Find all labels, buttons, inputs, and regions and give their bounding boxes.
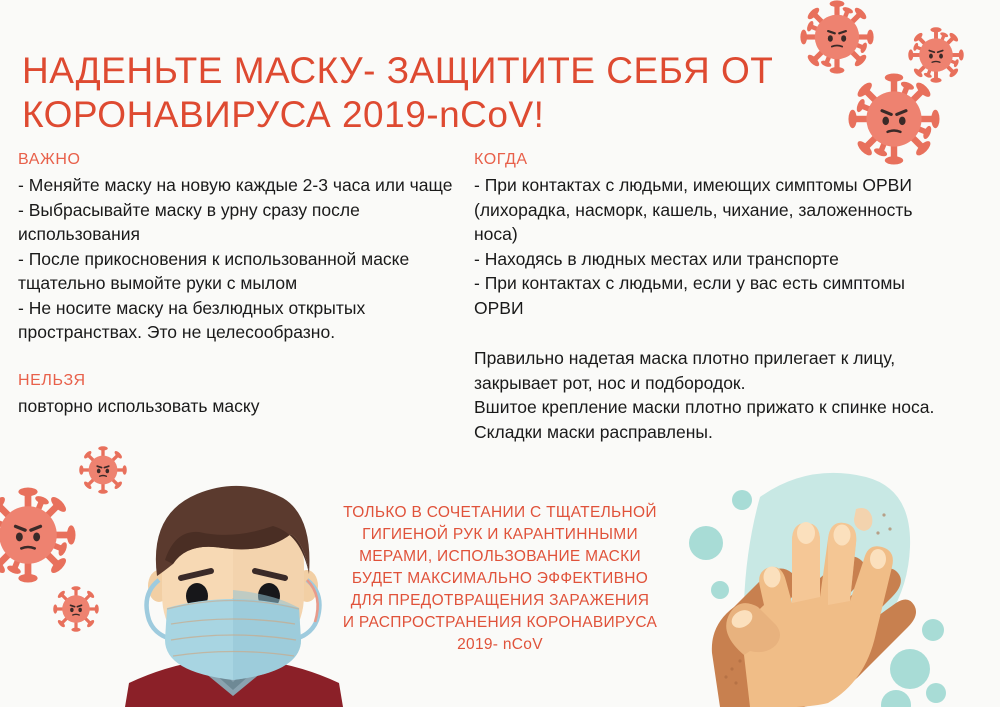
section-nelzya: НЕЛЬЗЯ повторно использовать маску [18,371,468,419]
right-text-column: КОГДА - При контактах с людьми, имеющих … [474,150,944,444]
coronavirus-icon [53,586,99,632]
section-kogda: КОГДА - При контактах с людьми, имеющих … [474,150,944,320]
section-heading-vazhno: ВАЖНО [18,150,468,170]
section-vazhno: ВАЖНО - Меняйте маску на новую каждые 2-… [18,150,468,345]
spacer [474,320,944,346]
section-heading-kogda: КОГДА [474,150,944,170]
section-body-correct-fit: Правильно надетая маска плотно прилегает… [474,346,944,444]
washing-hands-illustration [688,455,1000,707]
section-body-nelzya: повторно использовать маску [18,394,468,419]
left-text-column: ВАЖНО - Меняйте маску на новую каждые 2-… [18,150,468,418]
coronavirus-icon [0,487,76,583]
boy-with-mask-illustration [115,468,350,707]
coronavirus-icon [908,27,964,83]
page-title: НАДЕНЬТЕ МАСКУ- ЗАЩИТИТЕ СЕБЯ ОТ КОРОНАВ… [22,49,812,137]
center-caption-text: ТОЛЬКО В СОЧЕТАНИИ С ТЩАТЕЛЬНОЙ ГИГИЕНОЙ… [300,502,700,656]
section-body-kogda: - При контактах с людьми, имеющих симпто… [474,173,944,320]
spacer [18,345,468,371]
section-body-vazhno: - Меняйте маску на новую каждые 2-3 часа… [18,173,468,345]
section-heading-nelzya: НЕЛЬЗЯ [18,371,468,391]
poster-canvas: НАДЕНЬТЕ МАСКУ- ЗАЩИТИТЕ СЕБЯ ОТ КОРОНАВ… [0,0,1000,707]
